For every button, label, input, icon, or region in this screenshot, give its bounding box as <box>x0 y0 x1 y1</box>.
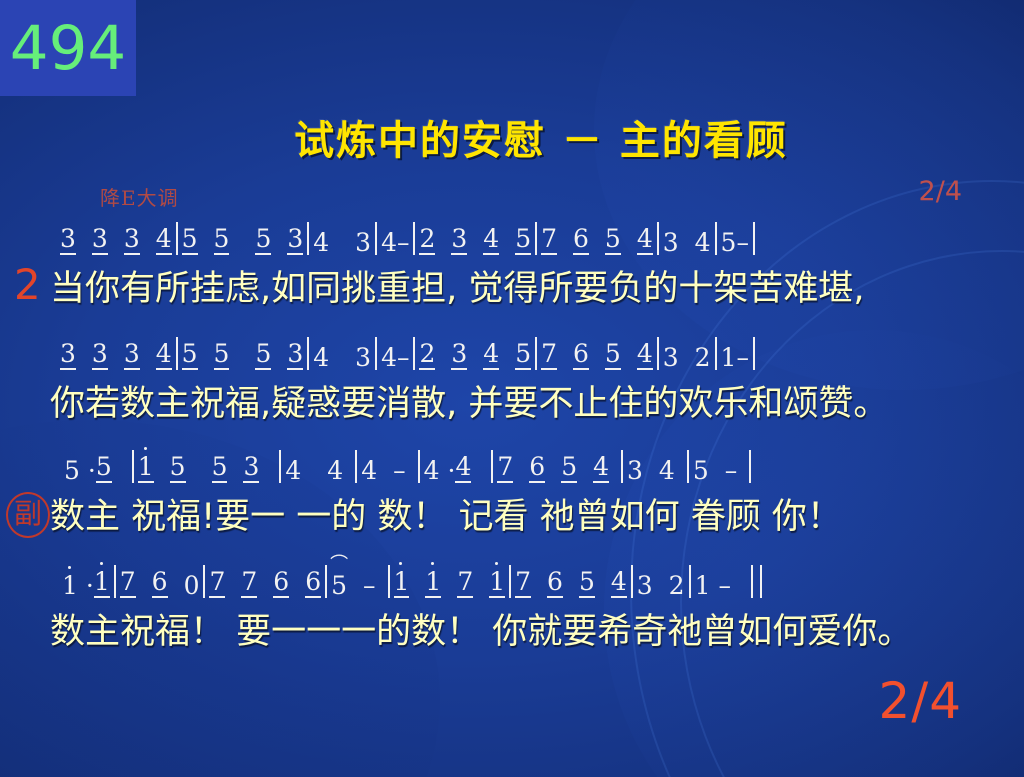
lyrics-line-2: 你若数主祝福,疑惑要消散, 并要不止住的欢乐和颂赞。 <box>50 375 888 426</box>
verse-number-marker-1: 2 <box>14 260 41 309</box>
lyrics-line-1: 当你有所挂虑,如同挑重担, 觉得所要负的十架苦难堪, <box>50 260 865 311</box>
song-slide: 494 试炼中的安慰 － 主的看顾 降E大调 2/4 2/4 333455534… <box>0 0 1024 777</box>
lyrics-line-3: 数主 祝福!要一 一的 数！ 记看 祂曾如何 眷顾 你！ <box>50 488 842 539</box>
page-title: 试炼中的安慰 － 主的看顾 <box>0 108 1024 166</box>
refrain-marker: 副 <box>6 492 50 538</box>
music-system-1: 33345553434–23457654345– 2 当你有所挂虑,如同挑重担,… <box>0 222 1024 255</box>
time-signature-top: 2/4 <box>919 176 962 207</box>
key-signature-label: 降E大调 <box>100 182 179 211</box>
slide-number: 494 <box>10 18 126 79</box>
music-system-4: 1·176077665–11717654321– 数主祝福！ 要一一一的数！ 你… <box>0 565 1024 598</box>
slide-number-badge: 494 <box>0 0 136 96</box>
lyrics-line-4: 数主祝福！ 要一一一的数！ 你就要希奇祂曾如何爱你。 <box>50 603 912 654</box>
music-system-3: 5·51553444–4·47654345– 副 数主 祝福!要一 一的 数！ … <box>0 450 1024 483</box>
notation-line-4: 1·176077665–11717654321– <box>0 565 1024 598</box>
notation-line-1: 33345553434–23457654345– <box>0 222 1024 255</box>
notation-line-2: 33345553434–23457654321– <box>0 337 1024 370</box>
notation-line-3: 5·51553444–4·47654345– <box>0 450 1024 483</box>
music-system-2: 33345553434–23457654321– 你若数主祝福,疑惑要消散, 并… <box>0 337 1024 370</box>
time-signature-bottom: 2/4 <box>879 672 962 730</box>
